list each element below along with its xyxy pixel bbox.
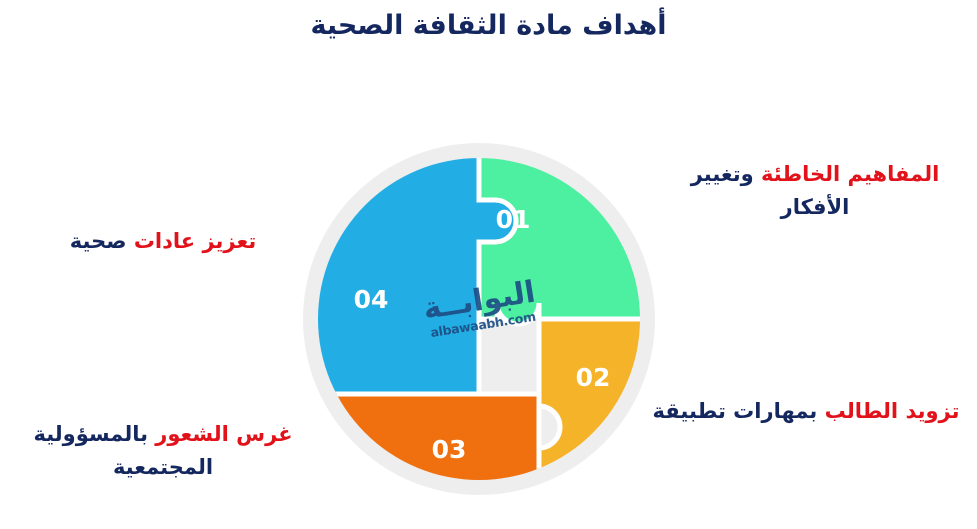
label-goal-03: غرس الشعور بالمسؤولية المجتمعية xyxy=(8,418,318,483)
label-goal-03-highlight: غرس الشعور xyxy=(155,422,292,446)
label-goal-04: تعزيز عادات صحية xyxy=(18,225,308,258)
label-goal-02-highlight: تزويد الطالب xyxy=(825,399,960,423)
puzzle-wheel: 01 02 03 04 البوابــة albawaabh.com xyxy=(303,128,655,513)
piece-number-01: 01 xyxy=(496,205,531,234)
label-goal-01: المفاهيم الخاطئة وتغيير الأفكار xyxy=(665,158,965,223)
label-goal-04-highlight: تعزيز عادات xyxy=(134,229,256,253)
page-title: أهداف مادة الثقافة الصحية xyxy=(0,8,977,43)
label-goal-01-highlight: المفاهيم الخاطئة xyxy=(761,162,939,186)
label-goal-02-rest: بمهارات تطبيقة xyxy=(653,399,825,423)
puzzle-svg: 01 02 03 04 xyxy=(303,128,655,513)
label-goal-02: تزويد الطالب بمهارات تطبيقة xyxy=(647,395,965,428)
piece-number-03: 03 xyxy=(432,435,467,464)
puzzle-piece-02[interactable] xyxy=(539,319,655,523)
label-goal-04-rest: صحية xyxy=(70,229,134,253)
piece-number-04: 04 xyxy=(354,285,389,314)
infographic-canvas: أهداف مادة الثقافة الصحية 01 02 xyxy=(0,0,977,529)
piece-number-02: 02 xyxy=(576,363,611,392)
